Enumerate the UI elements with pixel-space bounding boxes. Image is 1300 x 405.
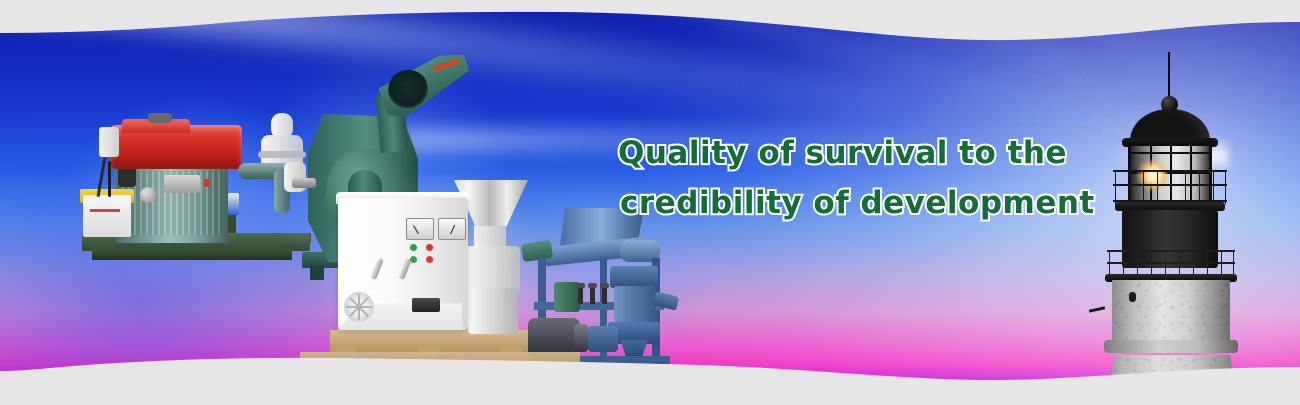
engine-red-lever [204, 179, 210, 187]
extruder-die-top [610, 266, 658, 288]
engine-white-panel [99, 127, 119, 157]
engine-side-cover [118, 167, 136, 187]
pellet-mill-gauge [438, 218, 466, 240]
mill-shaft [292, 178, 316, 188]
engine-fuel-cap [148, 113, 172, 123]
engine-battery [83, 195, 131, 237]
engine-frame-lower [92, 249, 292, 260]
lighthouse-window [1129, 292, 1136, 302]
pellet-mill-gauge [406, 218, 434, 240]
tagline-line-1: Quality of survival to the [618, 128, 1088, 178]
tagline-line-2: credibility of development [618, 178, 1088, 228]
diesel-engine [78, 105, 313, 285]
bottom-wave-divider [0, 345, 1300, 405]
pellet-mill-red-button[interactable] [426, 256, 433, 263]
engine-oil-bottle [228, 193, 239, 215]
engine-nameplate [164, 175, 200, 193]
lighthouse-bracket-arm [1089, 306, 1105, 312]
hero-banner: Quality of survival to the credibility o… [0, 0, 1300, 405]
banner-tagline: Quality of survival to the credibility o… [618, 128, 1088, 228]
lighthouse-upper-railing [1113, 170, 1227, 204]
engine-battery-label [90, 209, 120, 212]
pellet-mill-outlet [412, 298, 440, 312]
lighthouse-tower-upper [1112, 280, 1230, 346]
engine-hose [108, 161, 111, 197]
pellet-mill-red-button[interactable] [426, 244, 433, 251]
extruder-die-body [614, 286, 656, 326]
engine-knob [140, 187, 156, 203]
pellet-mill-fan-vent [344, 292, 374, 322]
extruder-valve-bank [578, 286, 612, 308]
top-wave-divider [0, 0, 1300, 60]
pellet-mill-green-button[interactable] [410, 244, 417, 251]
